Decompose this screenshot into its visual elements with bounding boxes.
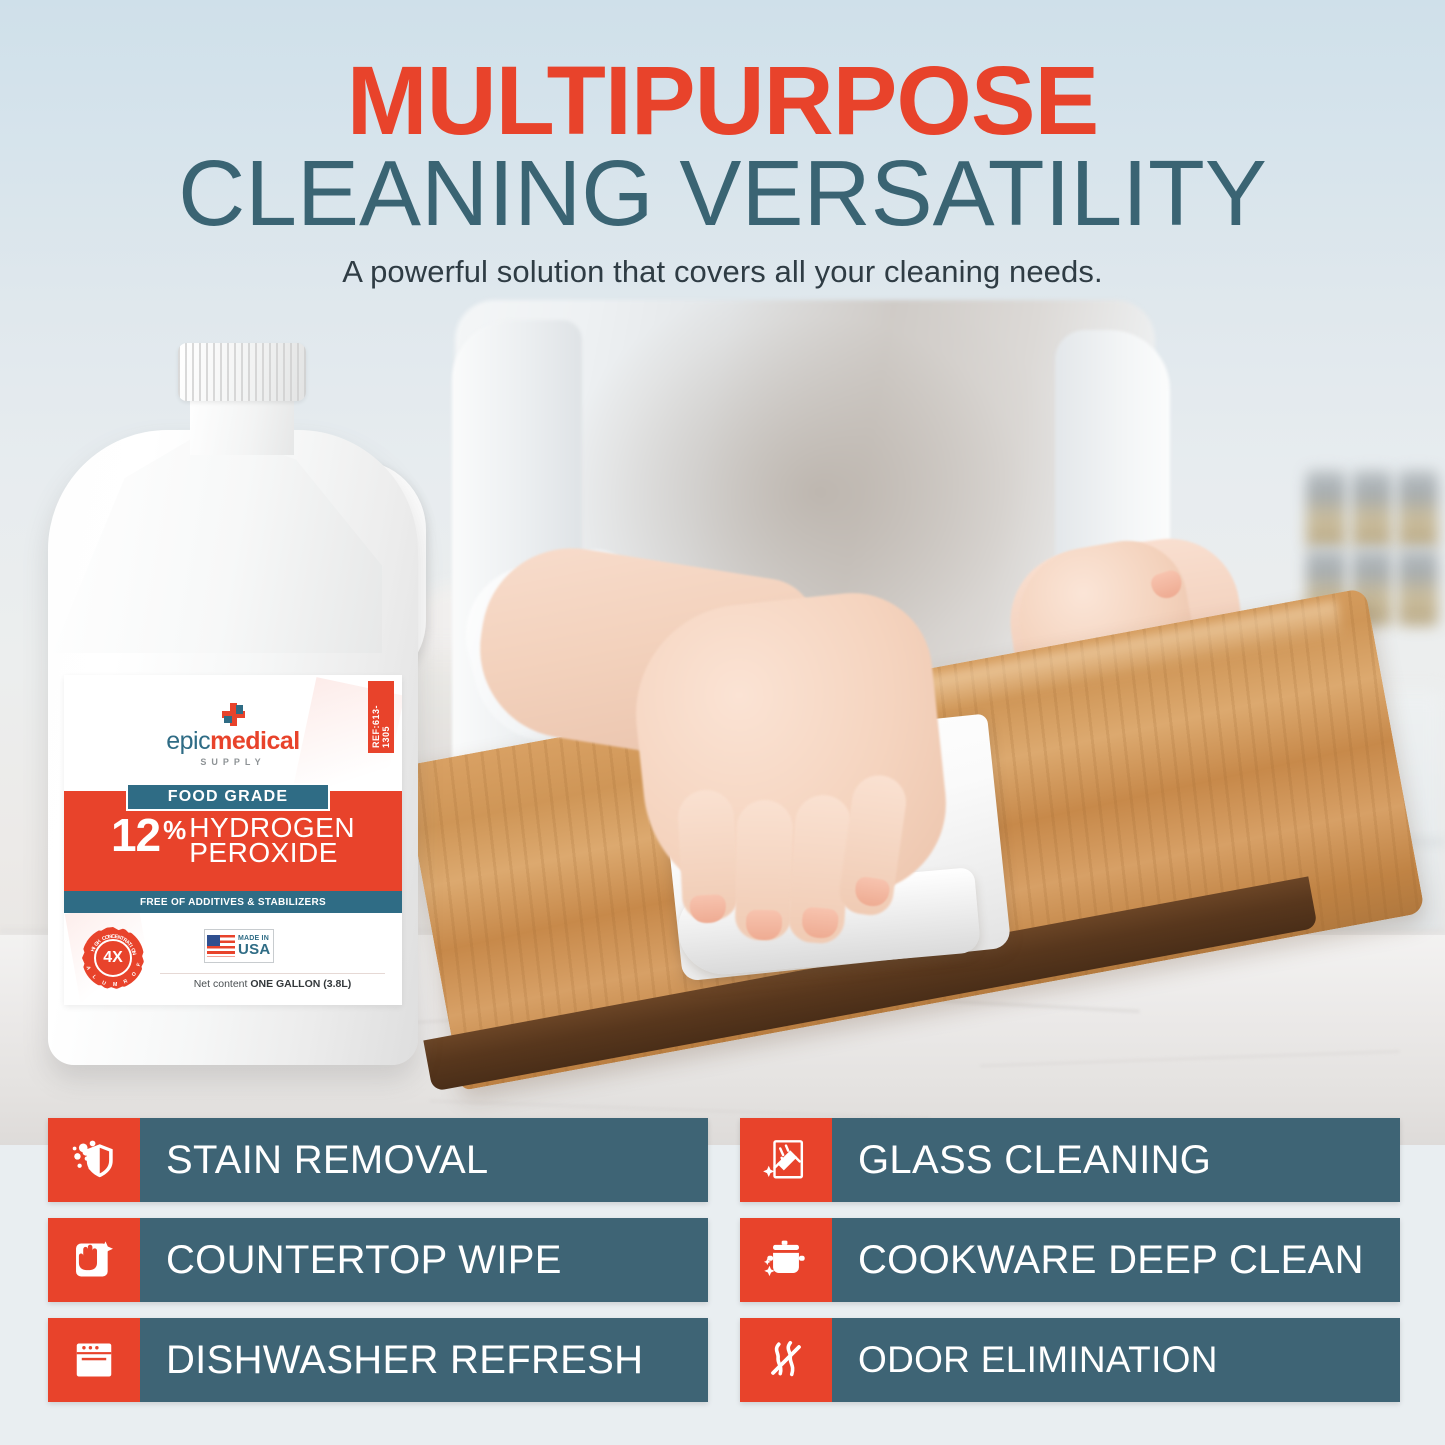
tagline: A powerful solution that covers all your… <box>0 238 1445 290</box>
stain-shield-icon <box>48 1118 140 1202</box>
feature-item-glass-cleaning[interactable]: GLASS CLEANING <box>740 1118 1400 1202</box>
fingernail <box>746 910 783 941</box>
net-content-prefix: Net content <box>194 978 251 990</box>
chemical-line-2: PEROXIDE <box>189 837 338 868</box>
badge-arc-text: HIGH CONCENTRATIONFORMULA <box>82 927 144 989</box>
percent-sign: % <box>163 817 186 843</box>
dishwasher-icon <box>48 1318 140 1402</box>
feature-label: GLASS CLEANING <box>832 1118 1400 1202</box>
feature-item-countertop-wipe[interactable]: COUNTERTOP WIPE <box>48 1218 708 1302</box>
made-in-usa-badge: MADE IN USA <box>204 929 274 963</box>
feature-label: DISHWASHER REFRESH <box>140 1318 708 1402</box>
feature-item-cookware-deep-clean[interactable]: COOKWARE DEEP CLEAN <box>740 1218 1400 1302</box>
feature-column-right: GLASS CLEANING COOKWARE DEEP CLEAN <box>740 1118 1400 1418</box>
feature-column-left: STAIN REMOVAL COUNTERTOP WIPE <box>48 1118 708 1418</box>
product-bottle: REF:613-1305 epicmedical SUPPLY FOOD GRA… <box>38 335 438 1065</box>
feature-label: STAIN REMOVAL <box>140 1118 708 1202</box>
background-jar <box>1398 470 1438 548</box>
feature-label: ODOR ELIMINATION <box>832 1318 1400 1402</box>
feature-item-odor-elimination[interactable]: ODOR ELIMINATION <box>740 1318 1400 1402</box>
chemical-name: HYDROGEN PEROXIDE <box>189 816 355 865</box>
background-jar <box>1306 470 1346 548</box>
usa-text: USA <box>238 942 271 957</box>
brand-lockup: epicmedical SUPPLY <box>64 703 402 767</box>
background-jar <box>1352 470 1392 548</box>
net-content: Net content ONE GALLON (3.8L) <box>160 973 385 990</box>
product-strength: 12 % HYDROGEN PEROXIDE <box>64 815 402 865</box>
feature-label: COUNTERTOP WIPE <box>140 1218 708 1302</box>
concentration-badge: 4X HIGH CONCENTRATIONFORMULA <box>82 927 144 989</box>
food-grade-badge: FOOD GRADE <box>126 783 330 811</box>
background-jar <box>1398 548 1438 626</box>
net-content-value: ONE GALLON (3.8L) <box>250 978 351 990</box>
brand-tagline: SUPPLY <box>64 757 402 767</box>
product-label: REF:613-1305 epicmedical SUPPLY FOOD GRA… <box>64 675 402 1005</box>
headline-block: MULTIPURPOSE CLEANING VERSATILITY A powe… <box>0 0 1445 330</box>
medical-cross-icon <box>222 703 245 726</box>
usa-flag-icon <box>207 935 235 957</box>
bottle-cap <box>178 343 306 401</box>
brand-name: epicmedical <box>64 729 402 754</box>
brand-name-first: epic <box>166 727 210 755</box>
headline-primary: MULTIPURPOSE <box>0 0 1445 145</box>
hand-wipe-sparkle-icon <box>48 1218 140 1302</box>
odor-waves-blocked-icon <box>740 1318 832 1402</box>
product-infographic: REF:613-1305 epicmedical SUPPLY FOOD GRA… <box>0 0 1445 1445</box>
free-of-additives-strip: FREE OF ADDITIVES & STABILIZERS <box>64 891 402 913</box>
squeegee-glass-icon <box>740 1118 832 1202</box>
brand-name-second: medical <box>210 727 300 755</box>
headline-secondary: CLEANING VERSATILITY <box>0 145 1445 237</box>
percent-number: 12 <box>111 815 160 855</box>
feature-item-dishwasher-refresh[interactable]: DISHWASHER REFRESH <box>48 1318 708 1402</box>
feature-label: COOKWARE DEEP CLEAN <box>832 1218 1400 1302</box>
feature-list: STAIN REMOVAL COUNTERTOP WIPE <box>0 1118 1445 1418</box>
feature-item-stain-removal[interactable]: STAIN REMOVAL <box>48 1118 708 1202</box>
pot-sparkle-icon <box>740 1218 832 1302</box>
